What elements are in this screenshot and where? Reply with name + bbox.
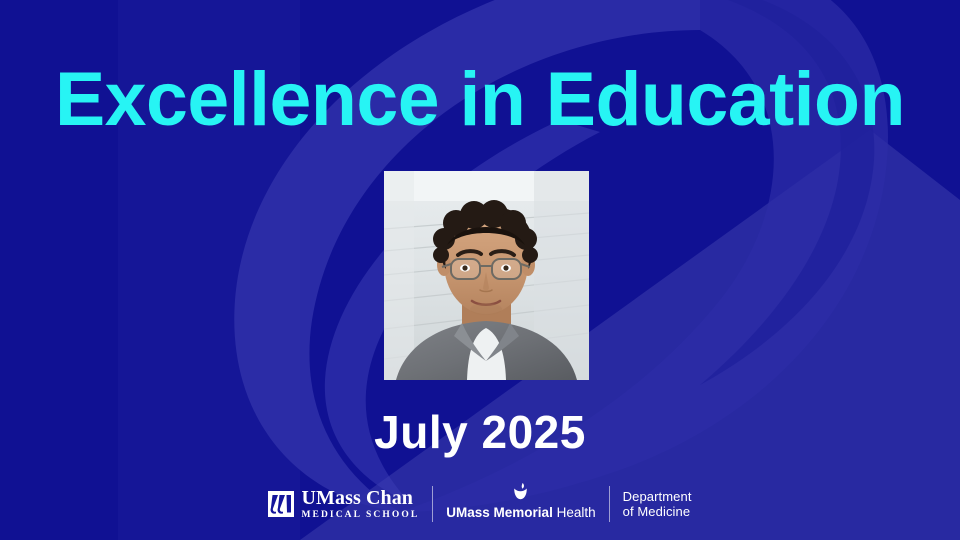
department-line-1: Department xyxy=(623,489,692,504)
umass-chan-monogram-icon xyxy=(268,491,294,517)
page-title: Excellence in Education xyxy=(5,58,955,142)
presentation-slide: Excellence in Education xyxy=(0,0,960,540)
umass-chan-logo: UMass Chan MEDICAL SCHOOL xyxy=(268,482,419,526)
department-line-2: of Medicine xyxy=(623,504,691,519)
logo-divider-1 xyxy=(432,486,433,522)
umass-memorial-bold: UMass Memorial xyxy=(446,505,553,520)
umass-memorial-tulip-icon xyxy=(512,482,529,501)
umass-memorial-light: Health xyxy=(557,505,596,520)
speaker-portrait-photo xyxy=(384,171,589,380)
umass-memorial-health-wordmark: UMass Memorial Health xyxy=(446,506,595,520)
logo-bar: UMass Chan MEDICAL SCHOOL UMass Memorial… xyxy=(0,476,960,532)
umass-memorial-health-logo: UMass Memorial Health xyxy=(446,482,595,526)
umass-chan-subtitle: MEDICAL SCHOOL xyxy=(301,511,419,521)
umass-chan-name: UMass Chan xyxy=(301,488,419,508)
department-of-medicine-logo: Department of Medicine xyxy=(623,482,692,526)
logo-divider-2 xyxy=(609,486,610,522)
slide-date: July 2025 xyxy=(0,405,960,459)
